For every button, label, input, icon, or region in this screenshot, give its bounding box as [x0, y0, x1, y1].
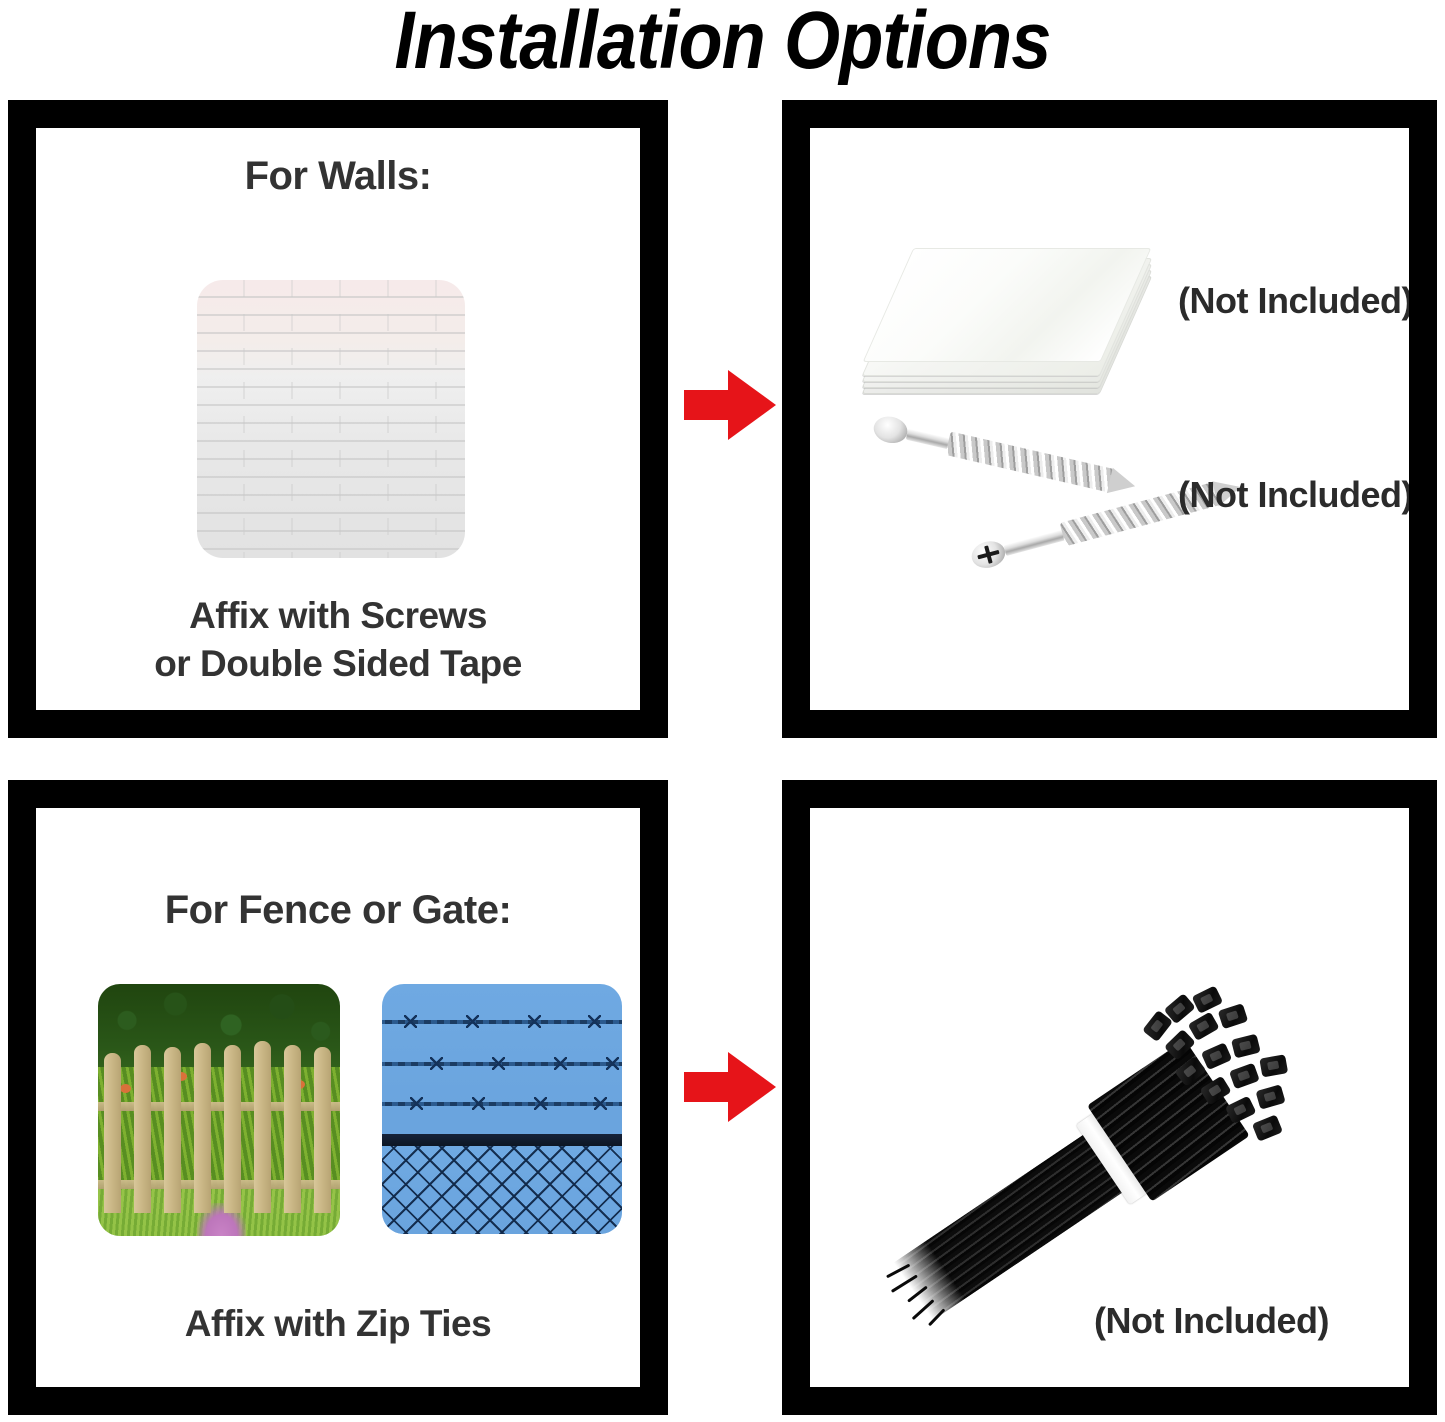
chain-link-fence-photo: [382, 984, 622, 1234]
flower: [120, 1084, 131, 1093]
screw-head: [969, 538, 1009, 572]
zip-tie-head: [1164, 1029, 1196, 1061]
fence-picket: [254, 1041, 271, 1213]
zip-tie-head: [1192, 985, 1224, 1013]
barb: [410, 1097, 423, 1110]
chain-link-mesh: [382, 1146, 622, 1234]
arrow-head: [728, 1052, 776, 1122]
zip-tie-head: [1174, 1056, 1206, 1087]
fence-picket: [164, 1047, 181, 1213]
fence-picket: [284, 1045, 301, 1213]
barb: [466, 1015, 479, 1028]
fence-picket: [314, 1047, 331, 1213]
zip-tie-head: [1252, 1114, 1283, 1141]
zip-tie-head: [1229, 1063, 1260, 1090]
zip-tie-head: [1225, 1096, 1257, 1124]
screws-not-included-label: (Not Included): [1178, 474, 1413, 516]
tape-not-included-label: (Not Included): [1178, 280, 1413, 322]
walls-caption-line-1: Affix with Screws: [36, 592, 640, 641]
red-right-arrow-icon: [684, 1052, 776, 1122]
fence-caption: Affix with Zip Ties: [36, 1300, 640, 1349]
white-brick-wall-image: [197, 280, 465, 558]
zip-tie-head: [1231, 1034, 1261, 1059]
picket-fence-photo: [98, 984, 340, 1236]
fence-picket: [224, 1045, 241, 1213]
screw-tip: [1107, 468, 1138, 499]
barb: [554, 1057, 567, 1070]
zip-tie-head: [1200, 1076, 1232, 1106]
fence-picket: [104, 1053, 121, 1213]
barb: [534, 1097, 547, 1110]
page-title: Installation Options: [87, 0, 1359, 88]
barb: [594, 1097, 607, 1110]
screw-shank: [1004, 529, 1067, 556]
barb: [472, 1097, 485, 1110]
tape-top-face: [863, 248, 1152, 362]
zip-tie-head: [1188, 1012, 1220, 1041]
panel-zip-ties: (Not Included): [782, 780, 1437, 1415]
barb: [404, 1015, 417, 1028]
panel-for-walls: For Walls: Affix with Screws or Double S…: [8, 100, 668, 738]
zip-tie-head: [1259, 1054, 1288, 1077]
screw-head: [871, 413, 910, 446]
fence-picket: [194, 1043, 211, 1213]
fence-picket: [134, 1045, 151, 1213]
panel-for-fence-or-gate: For Fence or Gate:: [8, 780, 668, 1415]
barb: [588, 1015, 601, 1028]
red-right-arrow-icon: [684, 370, 776, 440]
double-sided-tape-stack-image: [888, 240, 1140, 410]
for-walls-heading: For Walls:: [36, 154, 640, 199]
zip-tie-head: [1201, 1042, 1232, 1070]
for-fence-heading: For Fence or Gate:: [36, 888, 640, 933]
zipties-not-included-label: (Not Included): [1094, 1300, 1329, 1342]
panel-wall-hardware: (Not Included) (Not Included): [782, 100, 1437, 738]
wood-screw-image: [871, 413, 1159, 504]
barb: [606, 1057, 619, 1070]
barb: [492, 1057, 505, 1070]
zip-tie-head: [1255, 1084, 1285, 1109]
screw-shank: [906, 429, 951, 450]
walls-caption-line-2: or Double Sided Tape: [36, 640, 640, 689]
barb: [528, 1015, 541, 1028]
barbed-wire-strand: [382, 1020, 622, 1024]
arrow-head: [728, 370, 776, 440]
screw-thread: [945, 431, 1114, 492]
zip-tie-head: [1218, 1003, 1249, 1029]
fence-top-rail: [382, 1134, 622, 1146]
barb: [430, 1057, 443, 1070]
